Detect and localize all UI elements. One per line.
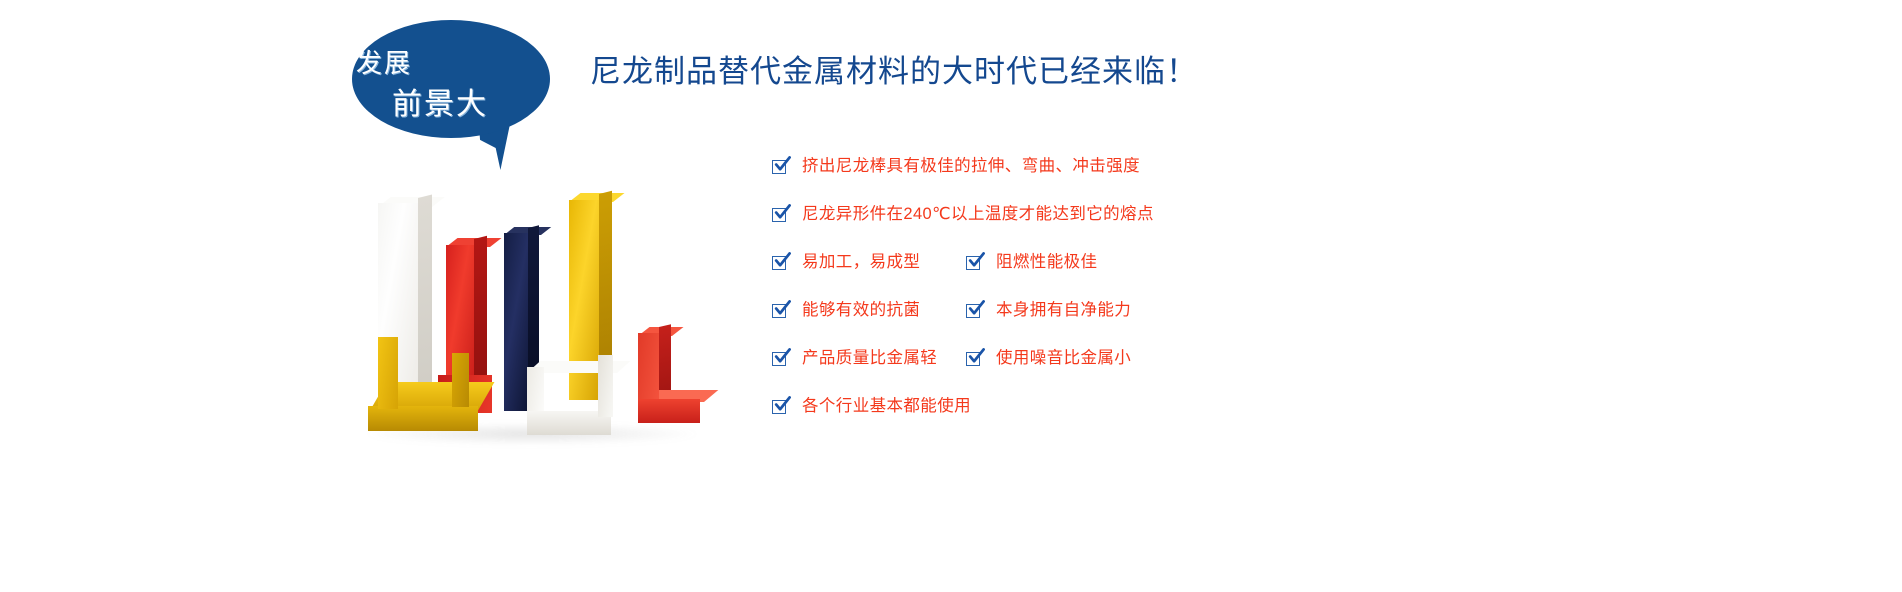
feature-item: 阻燃性能极佳 (966, 254, 1097, 271)
feature-item: 产品质量比金属轻 (772, 350, 937, 367)
checkbox-checked-icon (772, 350, 789, 367)
checkbox-checked-icon (966, 254, 983, 271)
feature-row: 挤出尼龙棒具有极佳的拉伸、弯曲、冲击强度 (772, 158, 1332, 206)
banner-root: 发展 前景大 尼龙制品替代金属材料的大时代已经来临！ (0, 0, 1902, 592)
page-title: 尼龙制品替代金属材料的大时代已经来临！ (590, 55, 1198, 89)
feature-row: 产品质量比金属轻 使用噪音比金属小 (772, 350, 1332, 398)
yellow-u-channel-wall-left (378, 337, 398, 409)
feature-item: 能够有效的抗菌 (772, 302, 920, 319)
feature-label: 本身拥有自净能力 (996, 302, 1131, 319)
white-u-channel-wall-right (598, 355, 613, 417)
yellow-u-channel-wall-right (452, 353, 469, 407)
white-bar-side-face (418, 195, 432, 412)
feature-row: 易加工，易成型 阻燃性能极佳 (772, 254, 1332, 302)
feature-label: 各个行业基本都能使用 (802, 398, 971, 415)
navy-bar (504, 233, 528, 411)
feature-item: 本身拥有自净能力 (966, 302, 1131, 319)
checkbox-checked-icon (772, 302, 789, 319)
yellow-u-channel-front (368, 406, 478, 431)
speech-bubble-line2: 前景大 (392, 90, 590, 120)
feature-label: 阻燃性能极佳 (996, 254, 1097, 271)
red-l-angle-base (638, 399, 700, 423)
feature-label: 挤出尼龙棒具有极佳的拉伸、弯曲、冲击强度 (802, 158, 1140, 175)
feature-item: 易加工，易成型 (772, 254, 920, 271)
feature-item: 挤出尼龙棒具有极佳的拉伸、弯曲、冲击强度 (772, 158, 1140, 175)
speech-bubble-line1: 发展 (356, 50, 554, 76)
feature-row: 各个行业基本都能使用 (772, 398, 1332, 446)
checkbox-checked-icon (772, 254, 789, 271)
feature-row: 尼龙异形件在240℃以上温度才能达到它的熔点 (772, 206, 1332, 254)
nylon-profile-products-photo (352, 185, 702, 460)
checkbox-checked-icon (966, 302, 983, 319)
feature-label: 尼龙异形件在240℃以上温度才能达到它的熔点 (802, 206, 1154, 223)
speech-bubble: 发展 前景大 (330, 12, 570, 177)
feature-label: 使用噪音比金属小 (996, 350, 1131, 367)
feature-label: 能够有效的抗菌 (802, 302, 920, 319)
feature-item: 尼龙异形件在240℃以上温度才能达到它的熔点 (772, 206, 1154, 223)
feature-label: 易加工，易成型 (802, 254, 920, 271)
feature-row: 能够有效的抗菌 本身拥有自净能力 (772, 302, 1332, 350)
feature-item: 各个行业基本都能使用 (772, 398, 971, 415)
checkbox-checked-icon (966, 350, 983, 367)
checkbox-checked-icon (772, 158, 789, 175)
feature-label: 产品质量比金属轻 (802, 350, 937, 367)
feature-item: 使用噪音比金属小 (966, 350, 1131, 367)
feature-list: 挤出尼龙棒具有极佳的拉伸、弯曲、冲击强度 尼龙异形件在240℃以上温度才能达到它… (772, 158, 1332, 446)
checkbox-checked-icon (772, 398, 789, 415)
checkbox-checked-icon (772, 206, 789, 223)
